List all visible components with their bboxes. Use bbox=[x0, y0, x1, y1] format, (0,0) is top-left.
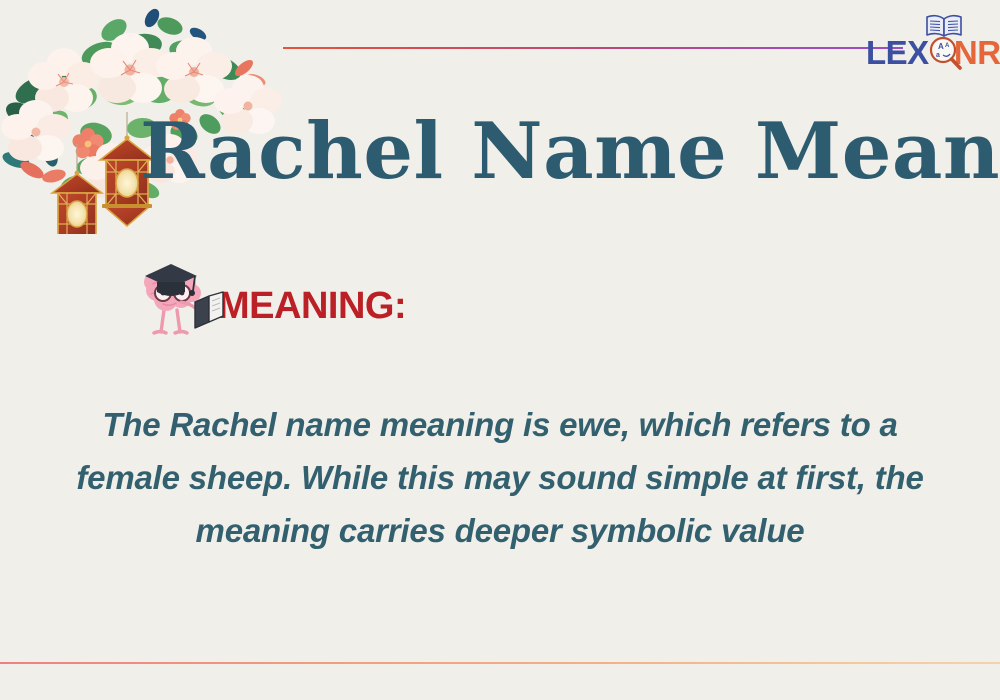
meaning-heading-label: MEANING: bbox=[218, 287, 406, 325]
infographic-canvas: LEXONR A A a Rachel Name Meaning bbox=[0, 0, 1000, 700]
graduate-brain-with-book-icon bbox=[137, 258, 229, 342]
svg-text:A: A bbox=[938, 42, 944, 51]
meaning-body-text: The Rachel name meaning is ewe, which re… bbox=[60, 398, 940, 557]
magnifying-glass-icon: A A a bbox=[928, 36, 962, 70]
logo-text-lex: LEX bbox=[866, 34, 929, 71]
lexonr-logo[interactable]: LEXONR A A a bbox=[866, 14, 996, 76]
svg-text:a: a bbox=[936, 52, 940, 59]
page-title: Rachel Name Meaning bbox=[0, 104, 1000, 200]
top-divider-line bbox=[283, 47, 903, 49]
svg-text:A: A bbox=[945, 43, 950, 49]
bottom-divider-line bbox=[0, 662, 1000, 664]
meaning-heading-row: MEANING: bbox=[137, 258, 406, 342]
